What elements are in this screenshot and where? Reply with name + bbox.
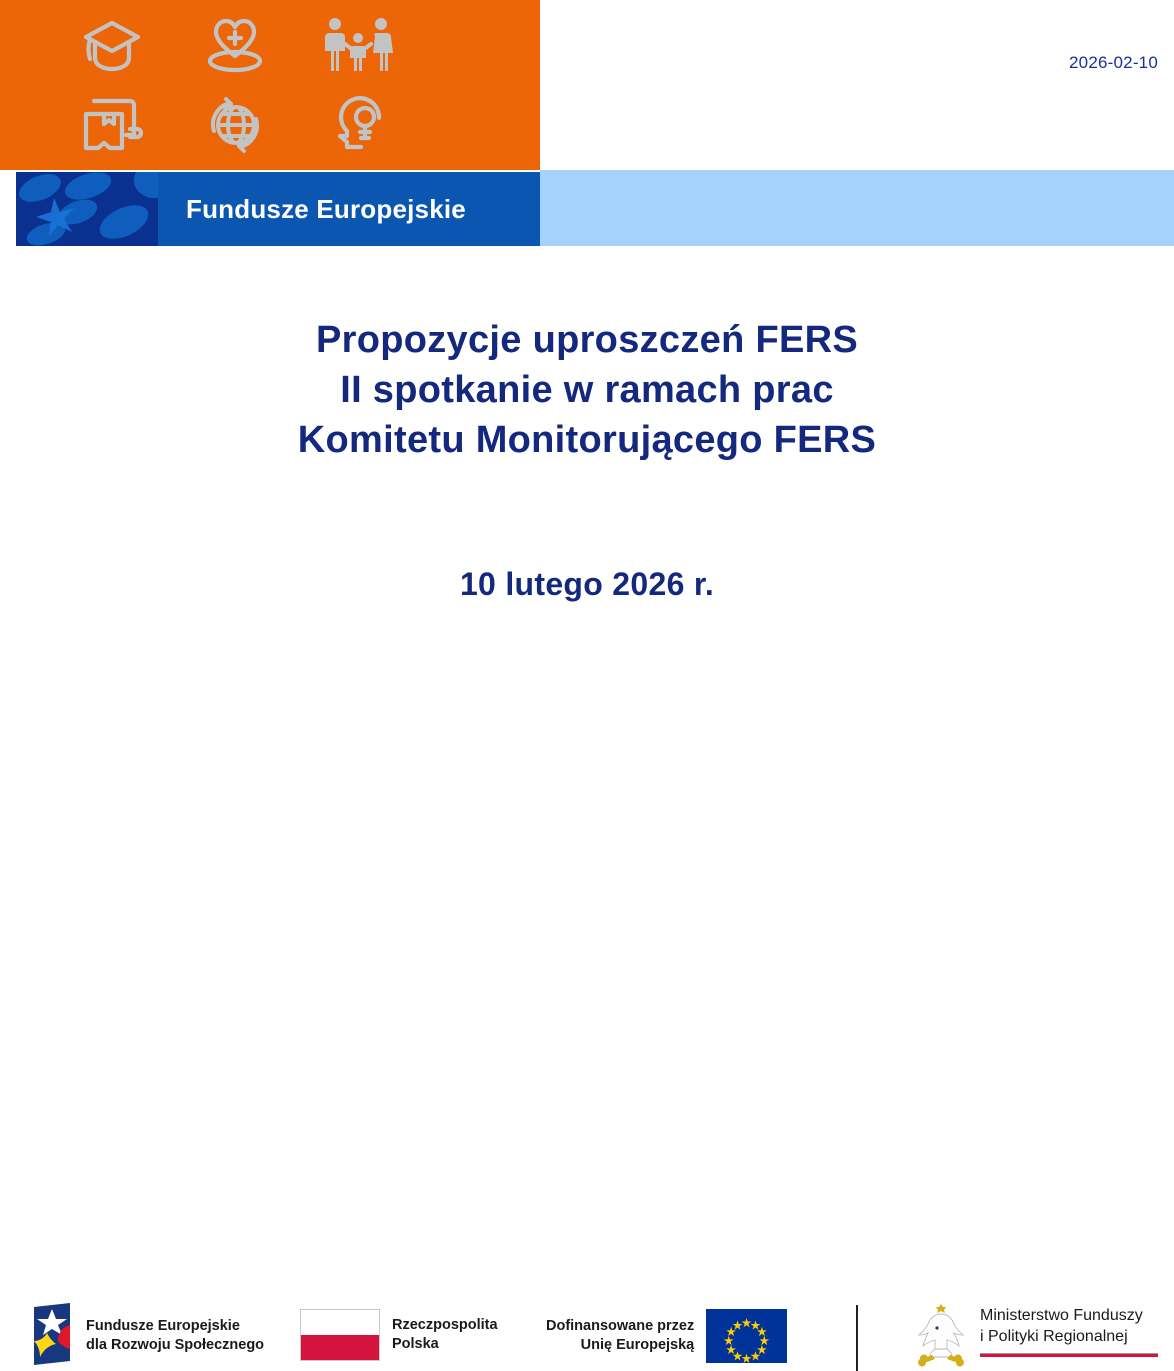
- poland-flag-icon: [300, 1309, 380, 1361]
- logo-ministry-line-1: Ministerstwo Funduszy: [980, 1305, 1158, 1326]
- globe-recycle-icon: [173, 85, 296, 164]
- logo-fundusze-europejskie: Fundusze Europejskie dla Rozwoju Społecz…: [22, 1303, 264, 1369]
- page-subtitle-date: 10 lutego 2026 r.: [0, 566, 1174, 603]
- footer-logo-bar: Fundusze Europejskie dla Rozwoju Społecz…: [0, 625, 1174, 783]
- logo-fe-line-2: dla Rozwoju Społecznego: [86, 1336, 264, 1355]
- book-document-icon: [50, 85, 173, 164]
- title-line-1: Propozycje uproszczeń FERS: [0, 315, 1174, 365]
- polish-eagle-icon: [910, 1301, 972, 1371]
- logo-eu-line-2: Unię Europejską: [546, 1336, 694, 1355]
- header-date: 2026-02-10: [1069, 53, 1158, 73]
- graduation-cap-icon: [50, 6, 173, 85]
- fe-flag-icon: [22, 1303, 74, 1369]
- eu-flag-icon: [706, 1309, 787, 1363]
- page-title: Propozycje uproszczeń FERS II spotkanie …: [0, 315, 1174, 465]
- logo-rzeczpospolita-polska: Rzeczpospolita Polska: [300, 1309, 498, 1361]
- footer-divider: [856, 1305, 858, 1371]
- logo-fe-text: Fundusze Europejskie dla Rozwoju Społecz…: [86, 1317, 264, 1355]
- logo-ministry-rule: [980, 1353, 1158, 1357]
- logo-ministerstwo: Ministerstwo Funduszy i Polityki Regiona…: [910, 1301, 1158, 1371]
- brand-bar-label: Fundusze Europejskie: [186, 172, 466, 246]
- main-background-panel-top-right: [540, 170, 1174, 246]
- logo-ministry-text: Ministerstwo Funduszy i Polityki Regiona…: [980, 1301, 1158, 1357]
- logo-poland-text: Rzeczpospolita Polska: [392, 1316, 498, 1354]
- head-lightbulb-icon: [297, 85, 420, 164]
- poland-flag-red-stripe: [301, 1335, 379, 1360]
- logo-eu-text: Dofinansowane przez Unię Europejską: [546, 1317, 694, 1355]
- logo-fe-line-1: Fundusze Europejskie: [86, 1317, 264, 1336]
- title-line-2: II spotkanie w ramach prac: [0, 365, 1174, 415]
- fundusze-europejskie-bar: Fundusze Europejskie: [16, 172, 540, 246]
- logo-eu-line-1: Dofinansowane przez: [546, 1317, 694, 1336]
- brand-pattern-decoration: [16, 172, 158, 246]
- logo-poland-line-2: Polska: [392, 1335, 498, 1354]
- poland-flag-white-stripe: [301, 1310, 379, 1335]
- title-line-3: Komitetu Monitorującego FERS: [0, 415, 1174, 465]
- logo-poland-line-1: Rzeczpospolita: [392, 1316, 498, 1335]
- logo-ministry-line-2: i Polityki Regionalnej: [980, 1326, 1158, 1347]
- icon-grid: [0, 0, 540, 170]
- logo-unia-europejska: Dofinansowane przez Unię Europejską: [546, 1309, 787, 1363]
- orange-icon-banner: [0, 0, 540, 170]
- family-icon: [297, 6, 420, 85]
- heart-health-icon: [173, 6, 296, 85]
